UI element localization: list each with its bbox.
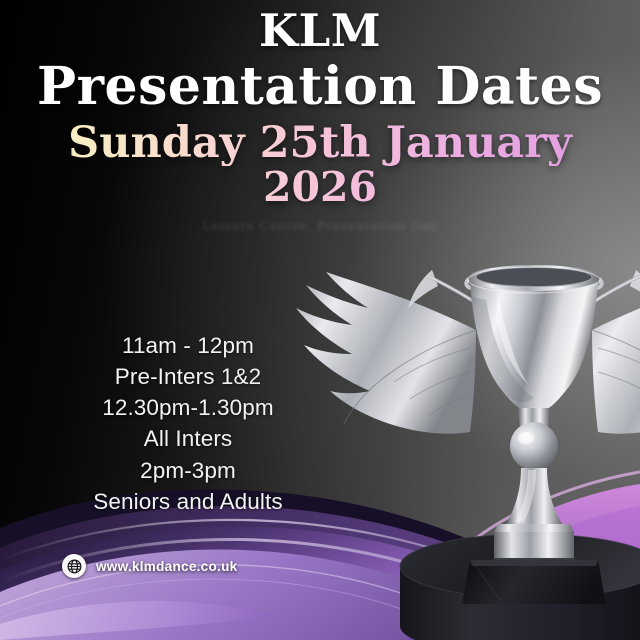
schedule-item-5: Seniors and Adults <box>18 486 358 517</box>
schedule-item-4: 2pm-3pm <box>18 455 358 486</box>
globe-icon <box>62 554 86 578</box>
website-footer[interactable]: www.klmdance.co.uk <box>62 554 237 578</box>
page-title-main: Presentation Dates <box>0 61 640 113</box>
schedule-item-0: 11am - 12pm <box>18 330 358 361</box>
faded-subtitle: Leisure Centre, Presentation Day <box>0 219 640 233</box>
schedule-item-3: All Inters <box>18 423 358 454</box>
event-date-line-2: 2026 <box>0 166 640 209</box>
website-url[interactable]: www.klmdance.co.uk <box>96 559 237 574</box>
event-date-line-1: Sunday 25th January <box>0 121 640 166</box>
schedule-list: 11am - 12pm Pre-Inters 1&2 12.30pm-1.30p… <box>18 330 358 517</box>
event-date-block: Sunday 25th January 2026 <box>0 121 640 209</box>
page-title-brand: KLM <box>0 8 640 53</box>
schedule-item-1: Pre-Inters 1&2 <box>18 361 358 392</box>
trophy-right-wing <box>592 270 640 434</box>
headline-block: KLM Presentation Dates Sunday 25th Janua… <box>0 8 640 233</box>
schedule-item-2: 12.30pm-1.30pm <box>18 392 358 423</box>
poster-canvas: KLM Presentation Dates Sunday 25th Janua… <box>0 0 640 640</box>
